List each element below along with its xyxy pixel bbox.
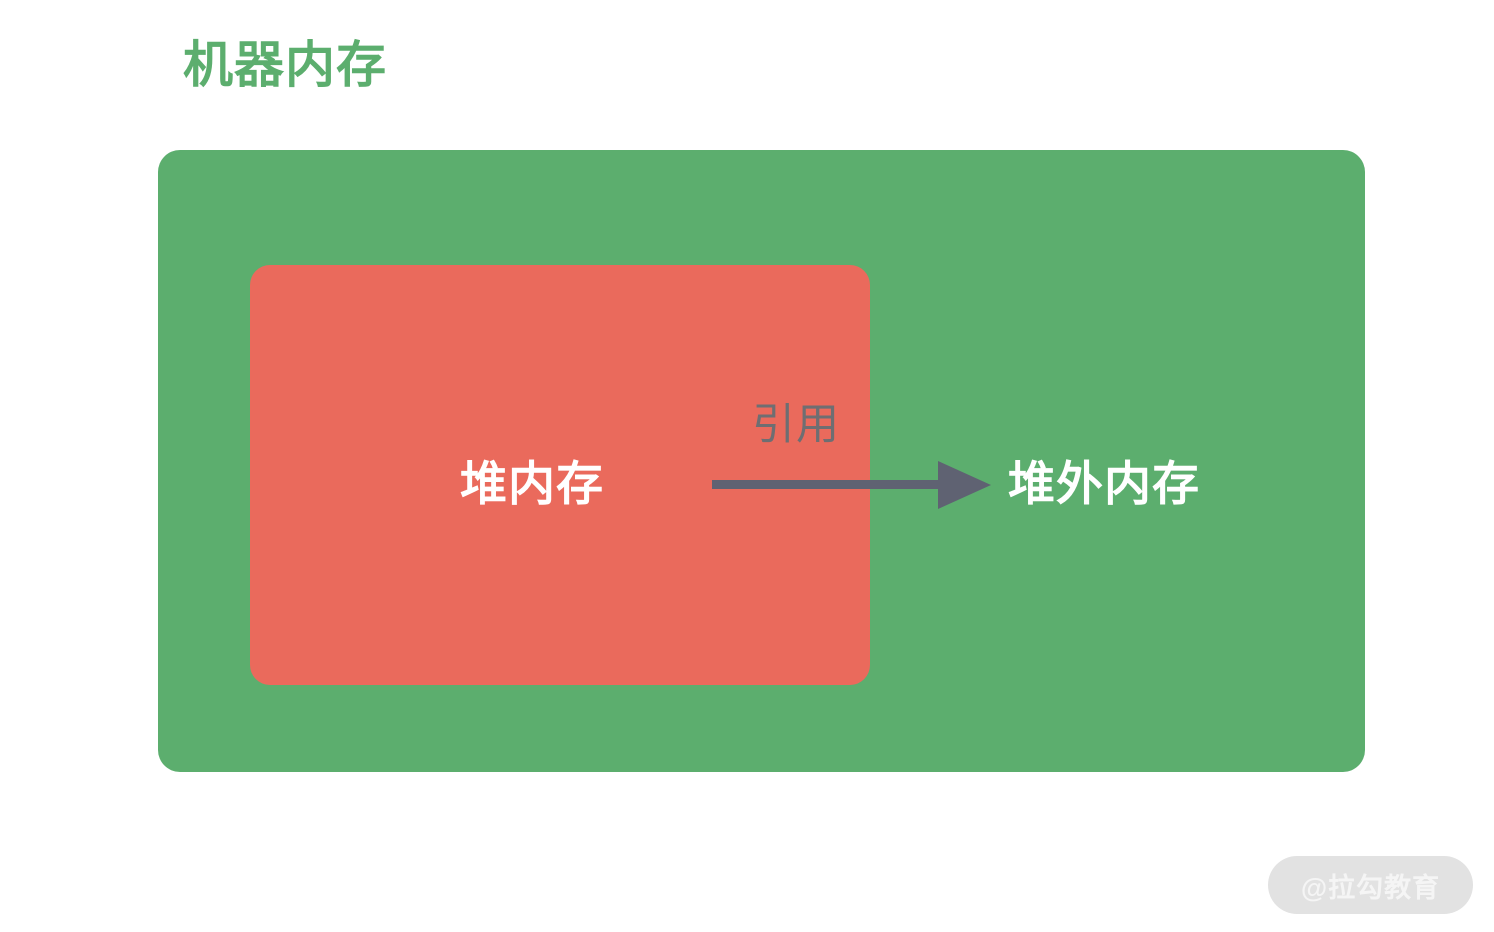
watermark-badge: @拉勾教育 — [1268, 856, 1473, 914]
page-title: 机器内存 — [183, 38, 387, 93]
reference-arrow-icon — [705, 452, 1005, 518]
heap-memory-label: 堆内存 — [460, 460, 604, 507]
off-heap-memory-label: 堆外内存 — [1008, 460, 1200, 507]
arrow-caption-label: 引用 — [752, 404, 840, 447]
diagram-canvas: 机器内存 堆内存 堆外内存 引用 @拉勾教育 — [0, 0, 1494, 932]
watermark-text: @拉勾教育 — [1301, 866, 1440, 905]
